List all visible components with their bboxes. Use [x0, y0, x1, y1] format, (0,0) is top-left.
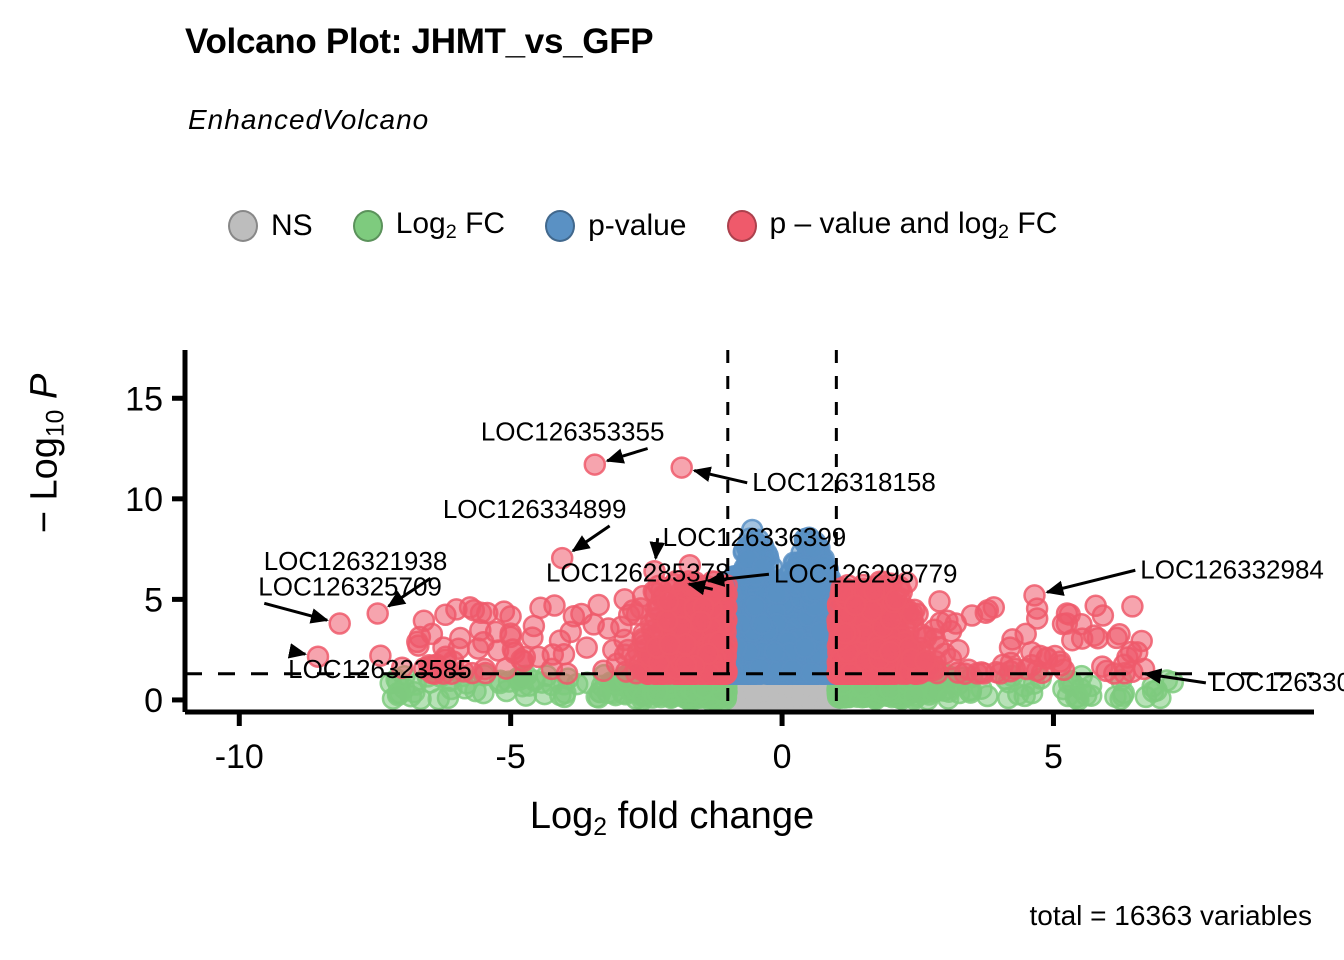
y-tick-label: 15 — [125, 380, 163, 418]
x-tick-label: 5 — [1044, 738, 1063, 776]
x-tick-label: 0 — [773, 738, 792, 776]
gene-label: LOC126334899 — [443, 494, 627, 524]
y-tick-label: 0 — [144, 682, 163, 720]
gene-label: LOC126298779 — [774, 558, 958, 588]
gene-label: LOC126336399 — [663, 522, 847, 552]
total-variables-caption: total = 16363 variables — [1029, 900, 1312, 932]
gene-label: LOC126353355 — [481, 417, 665, 447]
gene-label: LOC126318158 — [752, 467, 936, 497]
gene-label: LOC126332984 — [1140, 554, 1324, 584]
gene-label: LOC126325709 — [258, 571, 442, 601]
y-axis-title: − Log10 P — [24, 288, 71, 618]
x-tick-label: -10 — [215, 738, 264, 776]
x-tick-label: -5 — [496, 738, 526, 776]
y-tick-label: 5 — [144, 581, 163, 619]
volcano-plot-figure: Volcano Plot: JHMT_vs_GFP EnhancedVolcan… — [0, 0, 1344, 960]
y-tick-label: 10 — [125, 481, 163, 519]
gene-label: LOC126285378 — [546, 557, 730, 587]
gene-label: LOC126323585 — [288, 654, 472, 684]
gene-label: LOC126330821 — [1211, 667, 1344, 697]
x-axis-title: Log2 fold change — [0, 795, 1344, 842]
